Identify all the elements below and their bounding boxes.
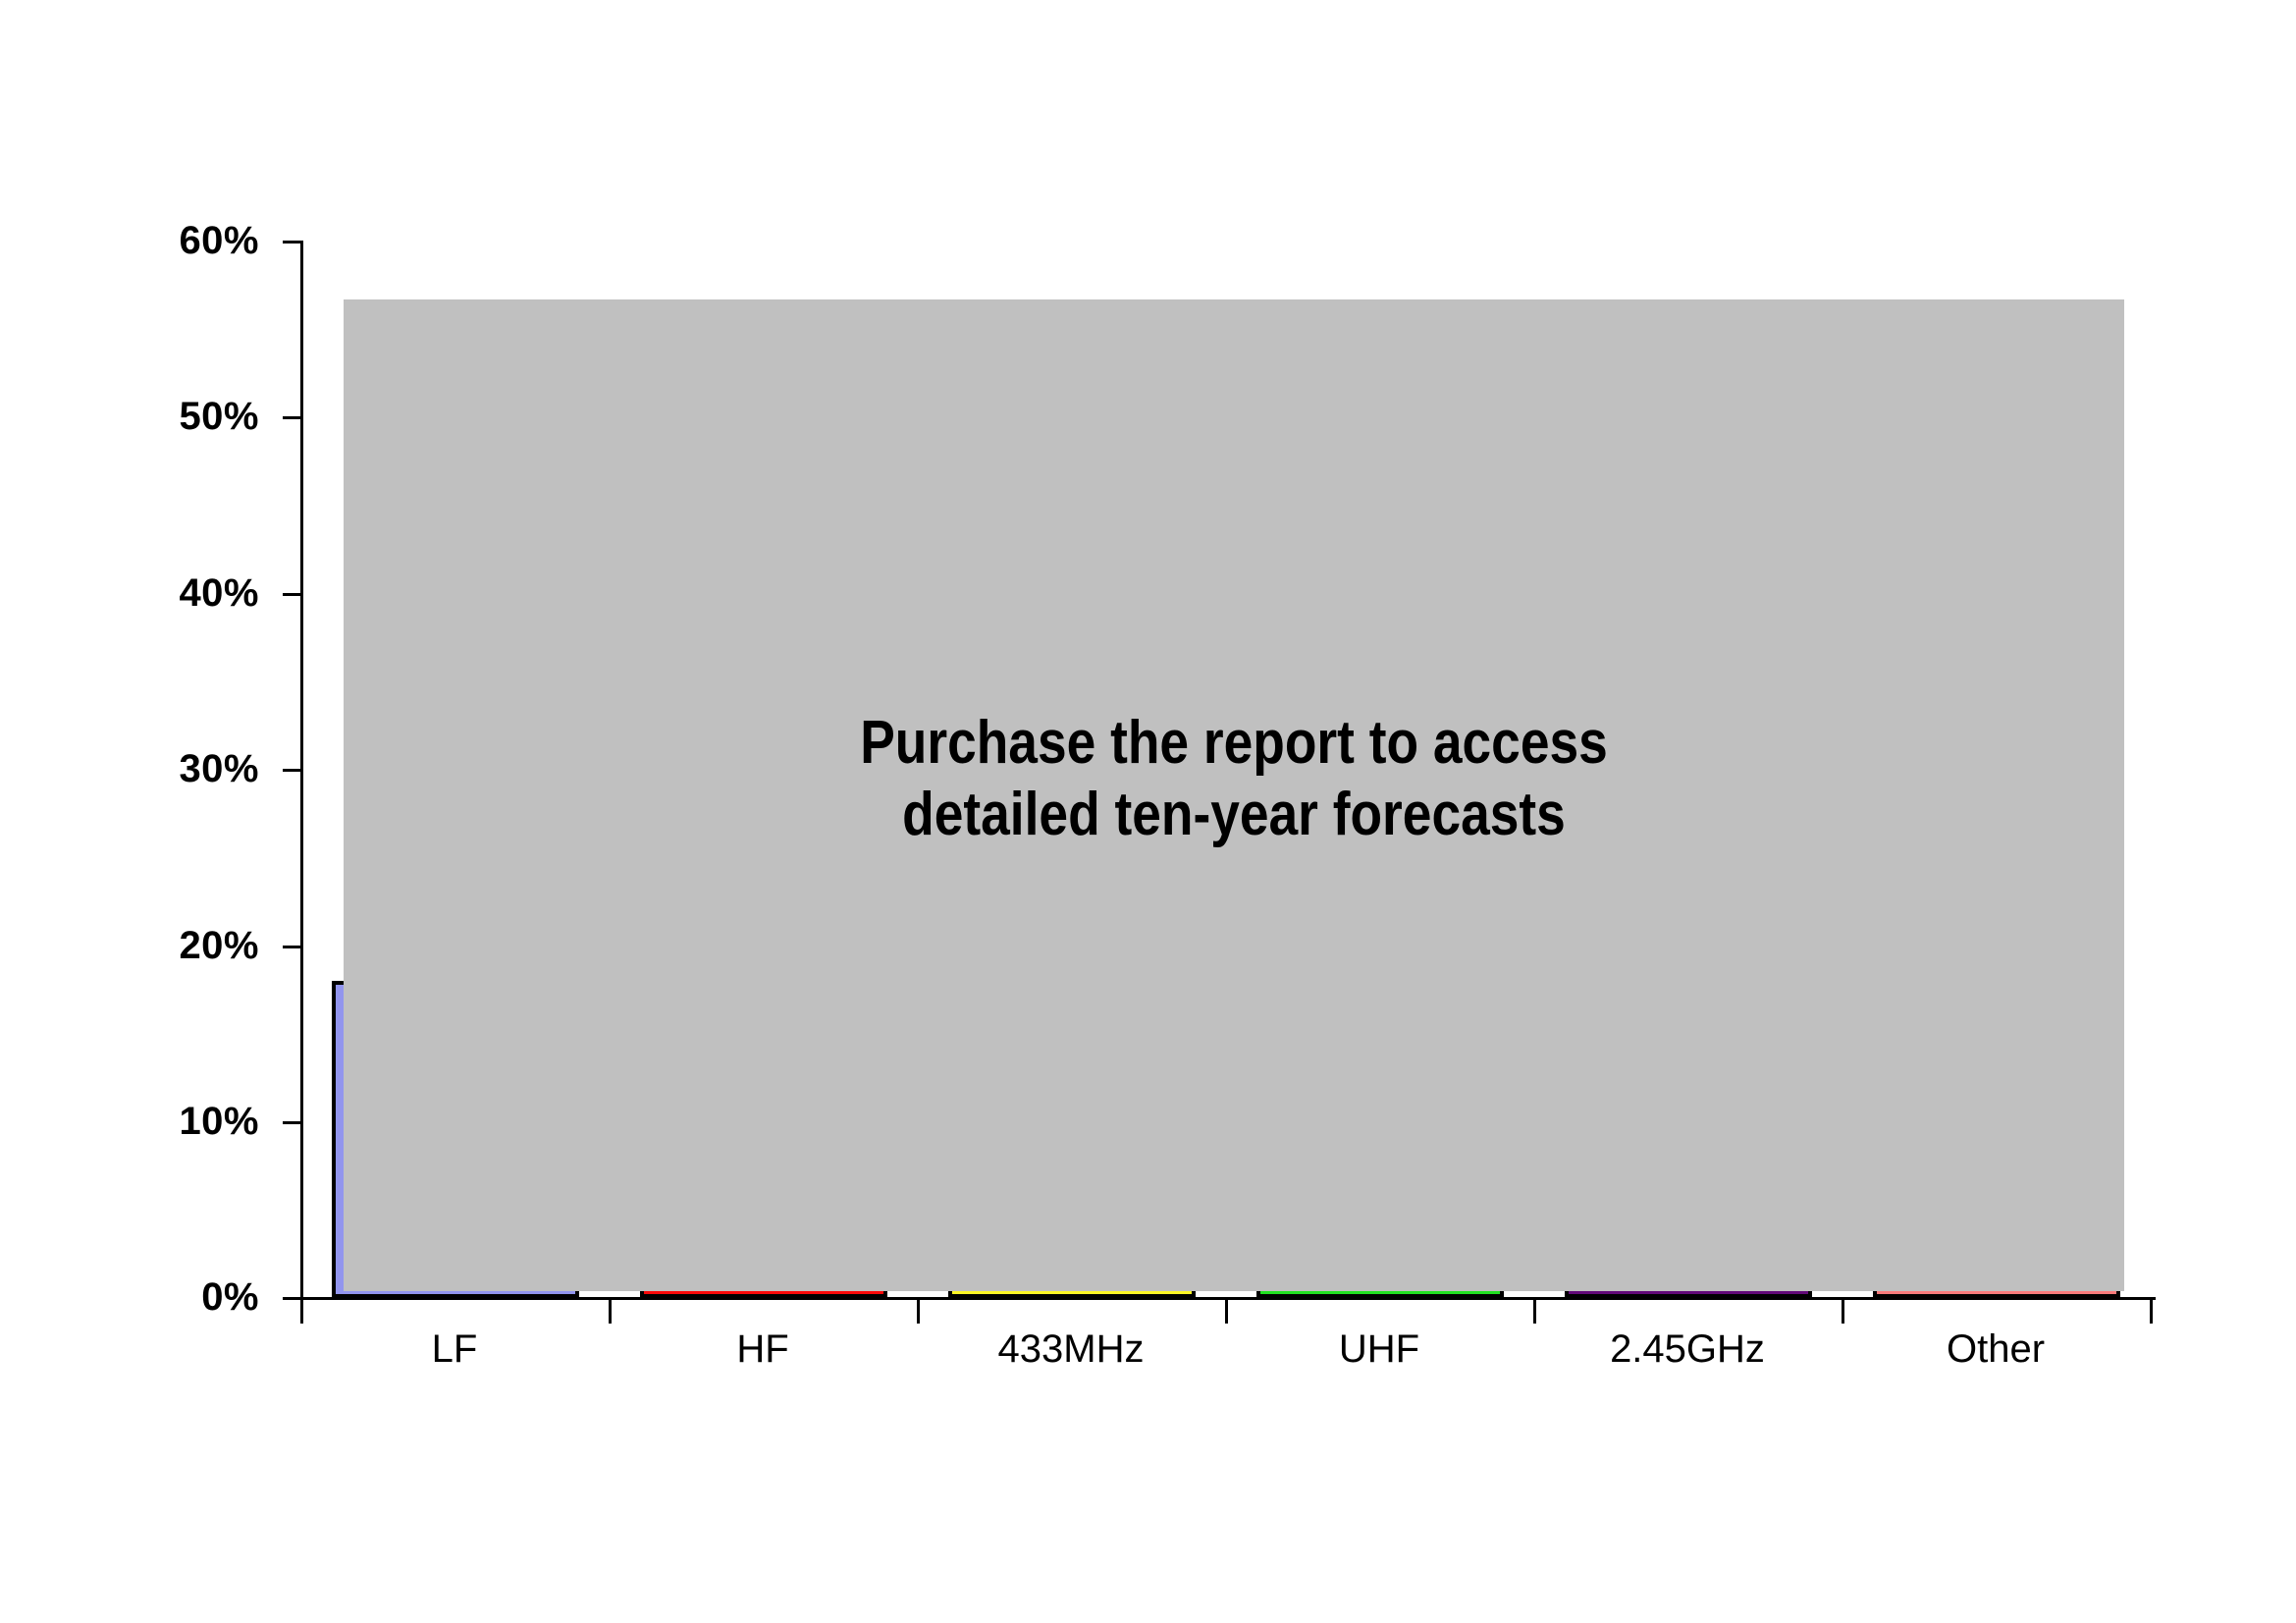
y-tick-label-60: 60% xyxy=(179,221,259,260)
y-tick-label-0: 0% xyxy=(201,1277,259,1317)
y-tick-label-40: 40% xyxy=(179,573,259,613)
x-tick-label-uhf: UHF xyxy=(1225,1325,1533,1373)
x-tick-label-hf: HF xyxy=(609,1325,917,1373)
x-tick-mark-2 xyxy=(917,1298,920,1324)
x-tick-mark-1 xyxy=(609,1298,612,1324)
y-tick-mark-50 xyxy=(283,416,302,419)
y-tick-label-50: 50% xyxy=(179,397,259,436)
x-tick-mark-4 xyxy=(1533,1298,1536,1324)
y-tick-mark-40 xyxy=(283,593,302,596)
x-axis-line xyxy=(300,1297,2156,1300)
x-tick-mark-3 xyxy=(1225,1298,1228,1324)
redaction-notice-text: Purchase the report to access detailed t… xyxy=(468,707,2000,850)
x-tick-mark-0 xyxy=(300,1298,303,1324)
x-tick-label-2-45ghz: 2.45GHz xyxy=(1533,1325,1842,1373)
x-tick-mark-5 xyxy=(1842,1298,1844,1324)
x-tick-mark-6 xyxy=(2150,1298,2153,1324)
y-tick-mark-20 xyxy=(283,946,302,948)
y-tick-label-20: 20% xyxy=(179,926,259,965)
y-tick-mark-60 xyxy=(283,241,302,243)
y-tick-label-30: 30% xyxy=(179,749,259,788)
y-tick-mark-0 xyxy=(283,1297,302,1300)
y-tick-label-10: 10% xyxy=(179,1102,259,1141)
x-tick-label-lf: LF xyxy=(300,1325,609,1373)
y-tick-mark-30 xyxy=(283,769,302,772)
chart-container: 60% 50% 40% 30% 20% 10% 0% Purchase the … xyxy=(0,0,2296,1623)
y-tick-mark-10 xyxy=(283,1121,302,1124)
x-tick-label-433mhz: 433MHz xyxy=(917,1325,1225,1373)
x-tick-label-other: Other xyxy=(1842,1325,2150,1373)
